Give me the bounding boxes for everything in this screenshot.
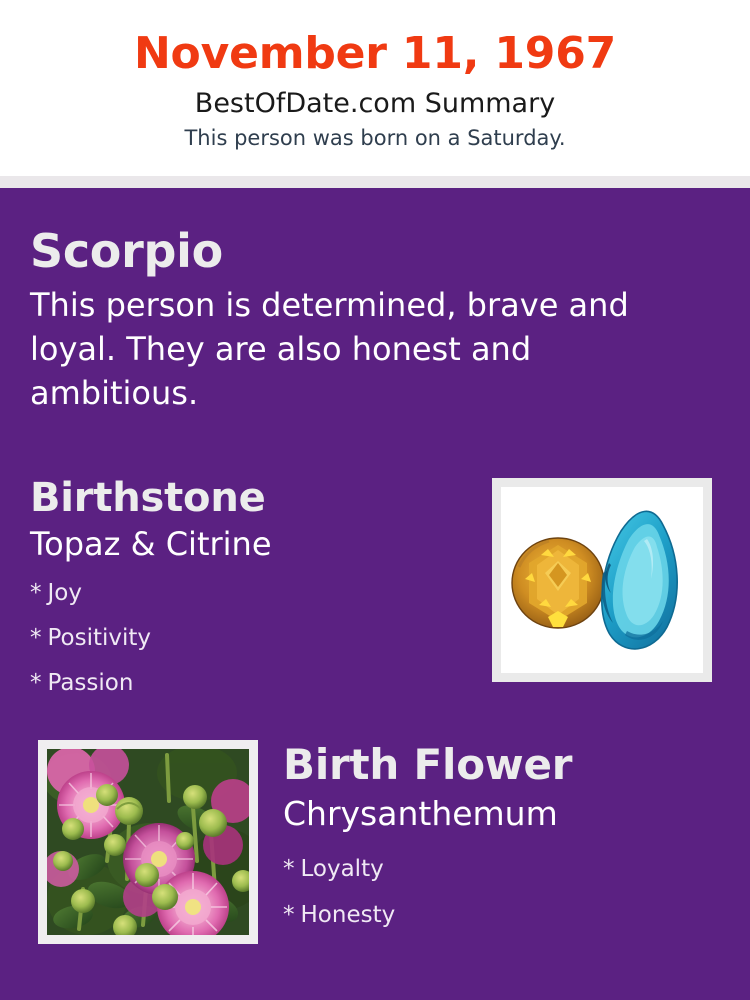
page-title-date: November 11, 1967 [0, 0, 750, 82]
birthstone-image-frame [492, 478, 712, 682]
zodiac-sign-name: Scorpio [30, 223, 700, 279]
list-item: *Joy [30, 571, 470, 616]
birthstone-trait-list: *Joy *Positivity *Passion [30, 565, 470, 706]
list-item: *Passion [30, 661, 470, 706]
birth-flower-image-frame [38, 740, 258, 944]
content-panel: Scorpio This person is determined, brave… [0, 188, 750, 1000]
birthstone-section: Birthstone Topaz & Citrine *Joy *Positiv… [30, 473, 470, 706]
summary-card: November 11, 1967 BestOfDate.com Summary… [0, 0, 750, 1000]
list-item: *Positivity [30, 616, 470, 661]
birth-flower-title: Birth Flower [283, 738, 723, 792]
asterisk-icon: * [30, 661, 48, 706]
header-divider [0, 176, 750, 188]
zodiac-description: This person is determined, brave and loy… [30, 279, 695, 415]
birthstone-title: Birthstone [30, 473, 470, 523]
gemstones-illustration [501, 487, 703, 673]
birth-flower-trait-label: Honesty [301, 902, 396, 928]
birthstone-photo [501, 487, 703, 673]
asterisk-icon: * [30, 616, 48, 661]
birth-flower-photo [47, 749, 249, 935]
birth-flower-trait-list: *Loyalty *Honesty [283, 836, 723, 938]
card-header: November 11, 1967 BestOfDate.com Summary… [0, 0, 750, 176]
site-subtitle: BestOfDate.com Summary [0, 82, 750, 121]
birth-flower-section: Birth Flower Chrysanthemum *Loyalty *Hon… [283, 738, 723, 938]
asterisk-icon: * [283, 846, 301, 892]
zodiac-section: Scorpio This person is determined, brave… [30, 223, 700, 415]
birthstone-trait-label: Joy [48, 580, 82, 606]
citrine-gem [512, 538, 604, 628]
list-item: *Loyalty [283, 846, 723, 892]
birth-day-note: This person was born on a Saturday. [0, 121, 750, 152]
birth-flower-name: Chrysanthemum [283, 792, 723, 836]
list-item: *Honesty [283, 892, 723, 938]
birthstone-name: Topaz & Citrine [30, 523, 470, 565]
birthstone-trait-label: Positivity [48, 625, 152, 651]
asterisk-icon: * [30, 571, 48, 616]
birthstone-trait-label: Passion [48, 670, 134, 696]
chrysanthemum-illustration [47, 749, 249, 935]
birth-flower-trait-label: Loyalty [301, 856, 384, 882]
asterisk-icon: * [283, 892, 301, 938]
